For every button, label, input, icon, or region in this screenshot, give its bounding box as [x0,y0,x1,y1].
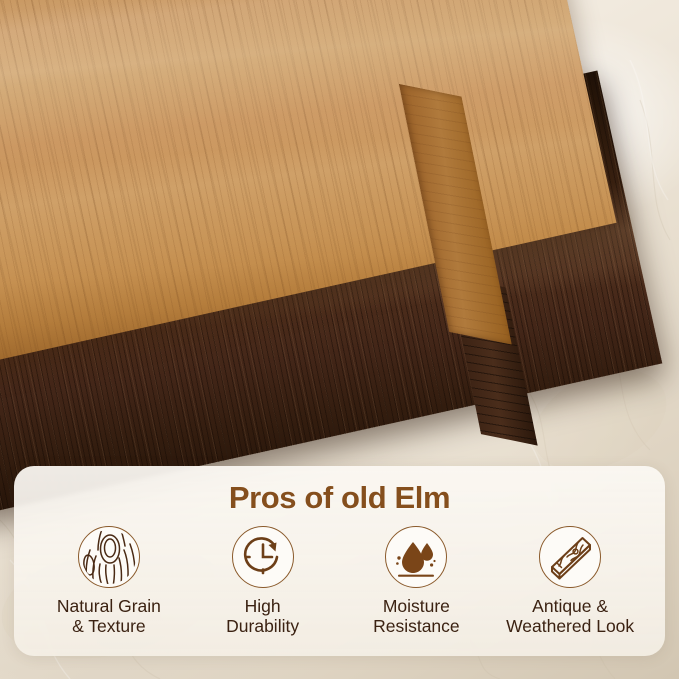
pros-panel: Pros of old Elm [14,466,665,656]
feature-label: Natural Grain & Texture [57,596,161,637]
panel-title: Pros of old Elm [14,480,665,516]
feature-high-durability: High Durability [186,526,340,637]
wood-plank-icon [539,526,601,588]
feature-list: Natural Grain & Texture High Du [14,516,665,637]
wood-grain-icon [78,526,140,588]
product-image-stage: Pros of old Elm [0,0,679,679]
feature-label: Antique & Weathered Look [506,596,634,637]
feature-moisture-resistance: Moisture Resistance [340,526,494,637]
clock-rotate-icon [232,526,294,588]
feature-antique-weathered: Antique & Weathered Look [493,526,647,637]
feature-label: Moisture Resistance [373,596,460,637]
feature-label: High Durability [226,596,299,637]
feature-natural-grain: Natural Grain & Texture [32,526,186,637]
water-droplet-icon [385,526,447,588]
